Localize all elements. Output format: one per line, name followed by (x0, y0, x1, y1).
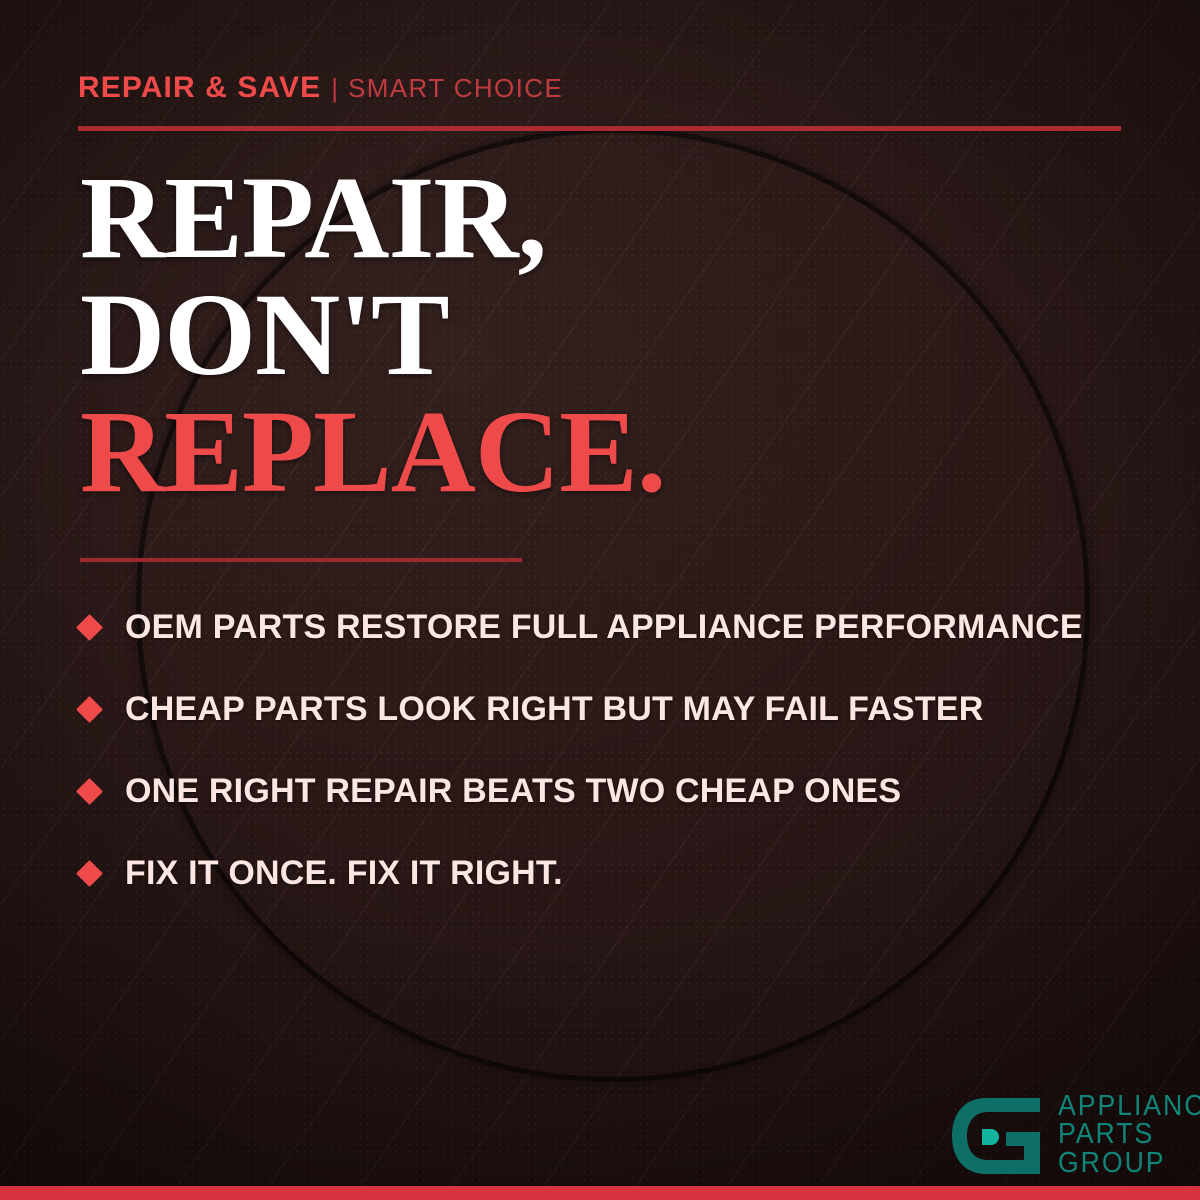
list-item-label: OEM PARTS RESTORE FULL APPLIANCE PERFORM… (125, 608, 1083, 647)
headline-line-3: REPLACE. (80, 394, 665, 511)
diamond-bullet-icon (76, 778, 103, 805)
list-item: CHEAP PARTS LOOK RIGHT BUT MAY FAIL FAST… (80, 668, 1150, 750)
promo-poster: REPAIR & SAVE| SMART CHOICE REPAIR, DON'… (0, 0, 1200, 1200)
brand-logo-line-2: PARTS (1058, 1120, 1200, 1148)
list-item-label: CHEAP PARTS LOOK RIGHT BUT MAY FAIL FAST… (125, 690, 983, 729)
list-item: OEM PARTS RESTORE FULL APPLIANCE PERFORM… (80, 586, 1150, 668)
diamond-bullet-icon (76, 860, 103, 887)
list-item-label: ONE RIGHT REPAIR BEATS TWO CHEAP ONES (125, 772, 901, 811)
page-title: REPAIR, DON'T REPLACE. (80, 160, 665, 510)
brand-logo-line-1: APPLIANCE (1058, 1092, 1200, 1120)
diamond-bullet-icon (76, 696, 103, 723)
headline-line-2: DON'T (80, 277, 665, 394)
brand-logo: APPLIANCE PARTS GROUP (944, 1090, 1200, 1187)
eyebrow: REPAIR & SAVE| SMART CHOICE (78, 73, 563, 103)
list-item: FIX IT ONCE. FIX IT RIGHT. (80, 832, 1150, 914)
header-divider-rule (78, 126, 1121, 131)
headline-line-1: REPAIR, (80, 160, 665, 277)
eyebrow-main-label: REPAIR & SAVE (78, 71, 321, 104)
poster-content: REPAIR & SAVE| SMART CHOICE REPAIR, DON'… (0, 0, 1200, 1200)
bottom-accent-bar (0, 1186, 1200, 1200)
g-monogram-icon (944, 1090, 1048, 1187)
diamond-bullet-icon (76, 614, 103, 641)
brand-logo-wordmark: APPLIANCE PARTS GROUP (1058, 1090, 1200, 1177)
benefits-list: OEM PARTS RESTORE FULL APPLIANCE PERFORM… (80, 586, 1150, 914)
headline-divider-rule (80, 558, 522, 562)
list-item: ONE RIGHT REPAIR BEATS TWO CHEAP ONES (80, 750, 1150, 832)
eyebrow-sub-label: | SMART CHOICE (331, 73, 563, 103)
brand-logo-line-3: GROUP (1058, 1149, 1200, 1177)
list-item-label: FIX IT ONCE. FIX IT RIGHT. (125, 854, 563, 893)
